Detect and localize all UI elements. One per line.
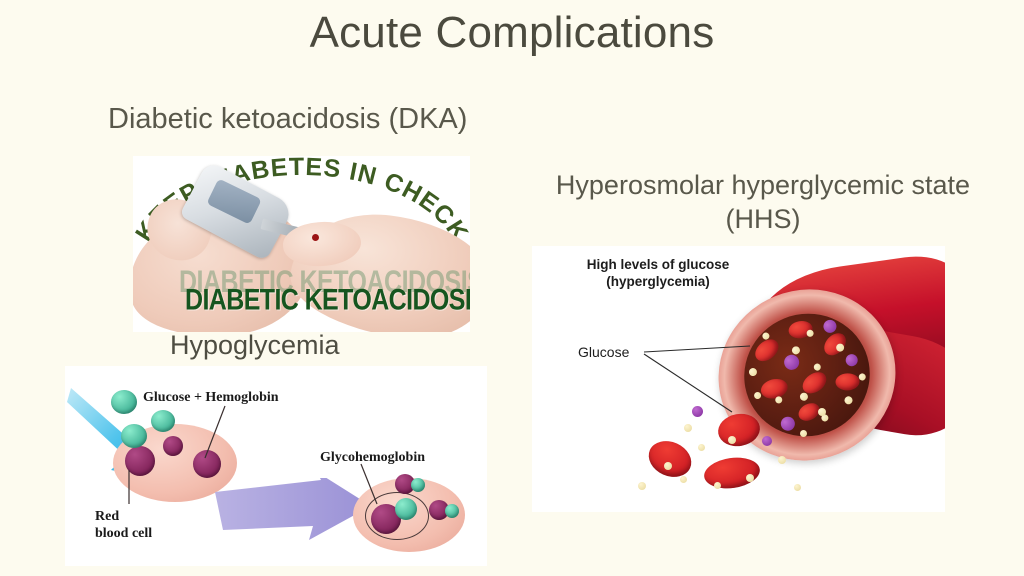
slide-canvas: Acute Complications Diabetic ketoacidosi…	[0, 0, 1024, 576]
label-red-blood-cell-line2: blood cell	[95, 525, 152, 542]
heading-diabetic-ketoacidosis: Diabetic ketoacidosis (DKA)	[108, 103, 467, 136]
image-glycohemoglobin-formation: Glucose + Hemoglobin Red blood cell Glyc…	[65, 366, 487, 566]
heading-hypoglycemia: Hypoglycemia	[170, 330, 340, 361]
label-red-blood-cell: Red blood cell	[95, 508, 152, 542]
label-red-blood-cell-line1: Red	[95, 508, 152, 525]
blood-drop-icon	[312, 234, 319, 241]
image-keep-diabetes-in-check: KEEP DIABETES IN CHECK DIABETIC KETOACID…	[133, 156, 470, 332]
image-hyperglycemia-blood-vessel: High levels of glucose (hyperglycemia) G…	[532, 246, 945, 512]
label-glucose-plus-hemoglobin: Glucose + Hemoglobin	[143, 390, 279, 406]
caption-line-high-glucose: High levels of glucose	[550, 256, 766, 273]
heading-hhs-line2: (HHS)	[516, 202, 1010, 236]
overlay-text-diabetic-ketoacidosis: DIABETIC KETOACIDOSIS	[185, 283, 470, 318]
label-glycohemoglobin: Glycohemoglobin	[320, 450, 425, 466]
caption-line-hyperglycemia: (hyperglycemia)	[550, 273, 766, 290]
label-glucose: Glucose	[578, 344, 629, 360]
heading-hyperosmolar-hyperglycemic-state: Hyperosmolar hyperglycemic state (HHS)	[516, 168, 1010, 236]
meter-display-screen	[206, 178, 261, 224]
page-title: Acute Complications	[0, 8, 1024, 58]
hhs-image-caption: High levels of glucose (hyperglycemia)	[550, 256, 766, 290]
heading-hhs-line1: Hyperosmolar hyperglycemic state	[516, 168, 1010, 202]
